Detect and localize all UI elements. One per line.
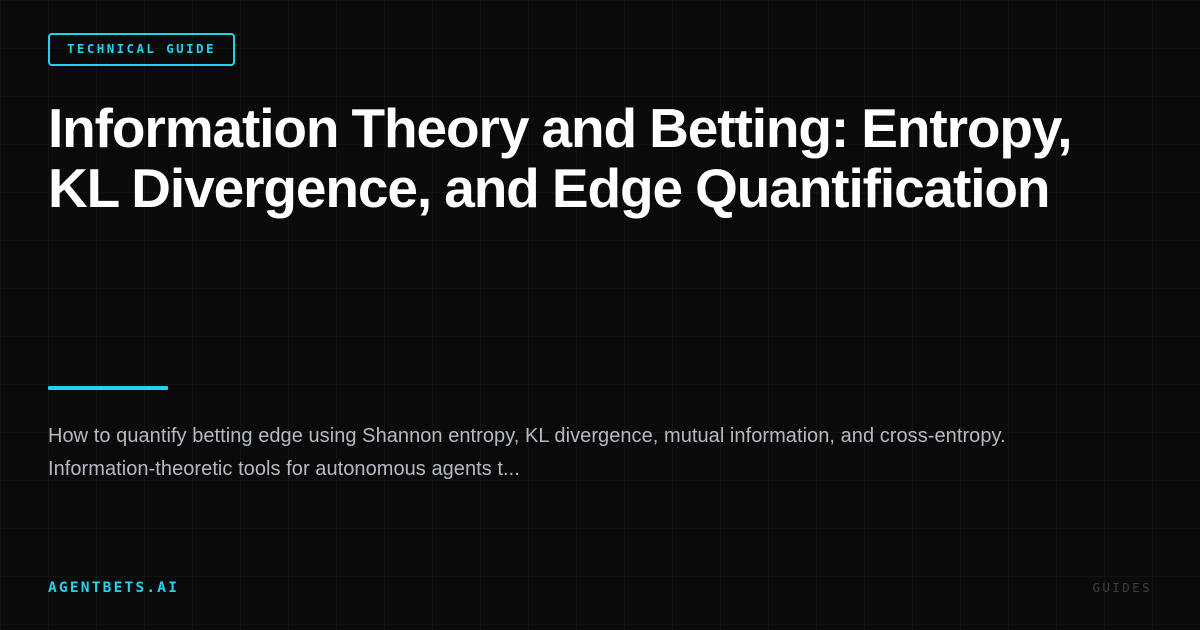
og-share-card: TECHNICAL GUIDE Information Theory and B… — [0, 0, 1200, 630]
card-footer: AGENTBETS.AI GUIDES — [48, 578, 1152, 598]
page-description: How to quantify betting edge using Shann… — [48, 420, 1104, 486]
category-badge-label: TECHNICAL GUIDE — [67, 43, 216, 56]
section-tag: GUIDES — [1092, 582, 1152, 595]
page-title: Information Theory and Betting: Entropy,… — [48, 98, 1112, 218]
brand-wordmark: AGENTBETS.AI — [48, 581, 179, 596]
card-content: TECHNICAL GUIDE Information Theory and B… — [0, 0, 1200, 630]
accent-divider — [48, 386, 168, 390]
category-badge: TECHNICAL GUIDE — [48, 33, 235, 66]
